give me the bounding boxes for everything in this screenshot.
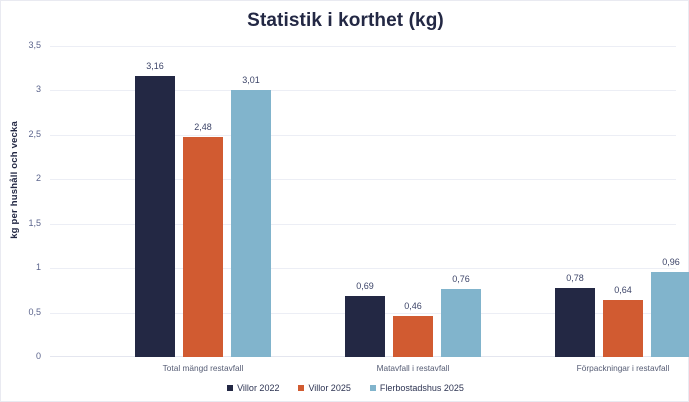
legend-swatch-icon: [370, 385, 376, 391]
bar: [135, 76, 175, 357]
bar-value-label: 2,48: [194, 122, 212, 132]
bar-value-label: 0,78: [566, 273, 584, 283]
y-axis-tick: 0,5: [28, 307, 41, 317]
legend-swatch-icon: [227, 385, 233, 391]
gridline: [50, 46, 676, 47]
chart-title: Statistik i korthet (kg): [1, 10, 689, 32]
legend-item[interactable]: Flerbostadshus 2025: [370, 383, 464, 393]
legend-label: Villor 2025: [308, 383, 350, 393]
x-axis-category-label: Matavfall i restavfall: [377, 363, 450, 373]
y-axis-tick: 2,5: [28, 129, 41, 139]
bar-value-label: 0,69: [356, 281, 374, 291]
bar: [603, 300, 643, 357]
x-axis-category-label: Total mängd restavfall: [163, 363, 244, 373]
x-axis-category-label: Förpackningar i restavfall: [577, 363, 670, 373]
y-axis-tick: 2: [36, 173, 41, 183]
bar-value-label: 3,01: [242, 75, 260, 85]
bar: [651, 272, 689, 357]
legend-swatch-icon: [298, 385, 304, 391]
bar: [183, 137, 223, 357]
bar-value-label: 0,96: [662, 257, 680, 267]
bar-value-label: 0,64: [614, 285, 632, 295]
chart-legend: Villor 2022Villor 2025Flerbostadshus 202…: [1, 383, 689, 393]
y-axis-tick: 1: [36, 262, 41, 272]
plot-area: 3,162,483,010,690,460,760,780,640,96: [50, 46, 676, 357]
y-axis-tick: 3: [36, 84, 41, 94]
bar: [231, 90, 271, 357]
chart-card: Statistik i korthet (kg) kg per hushåll …: [0, 0, 689, 402]
y-axis-tick: 1,5: [28, 218, 41, 228]
legend-label: Flerbostadshus 2025: [380, 383, 464, 393]
bar: [345, 296, 385, 357]
y-axis-tick-labels: 3,532,521,510,50: [1, 46, 45, 357]
y-axis-tick: 3,5: [28, 40, 41, 50]
bar-value-label: 3,16: [146, 61, 164, 71]
legend-item[interactable]: Villor 2022: [227, 383, 279, 393]
bar: [441, 289, 481, 357]
bar: [555, 288, 595, 357]
bar: [393, 316, 433, 357]
legend-item[interactable]: Villor 2025: [298, 383, 350, 393]
bar-value-label: 0,46: [404, 301, 422, 311]
bar-value-label: 0,76: [452, 274, 470, 284]
y-axis-tick: 0: [36, 351, 41, 361]
legend-label: Villor 2022: [237, 383, 279, 393]
